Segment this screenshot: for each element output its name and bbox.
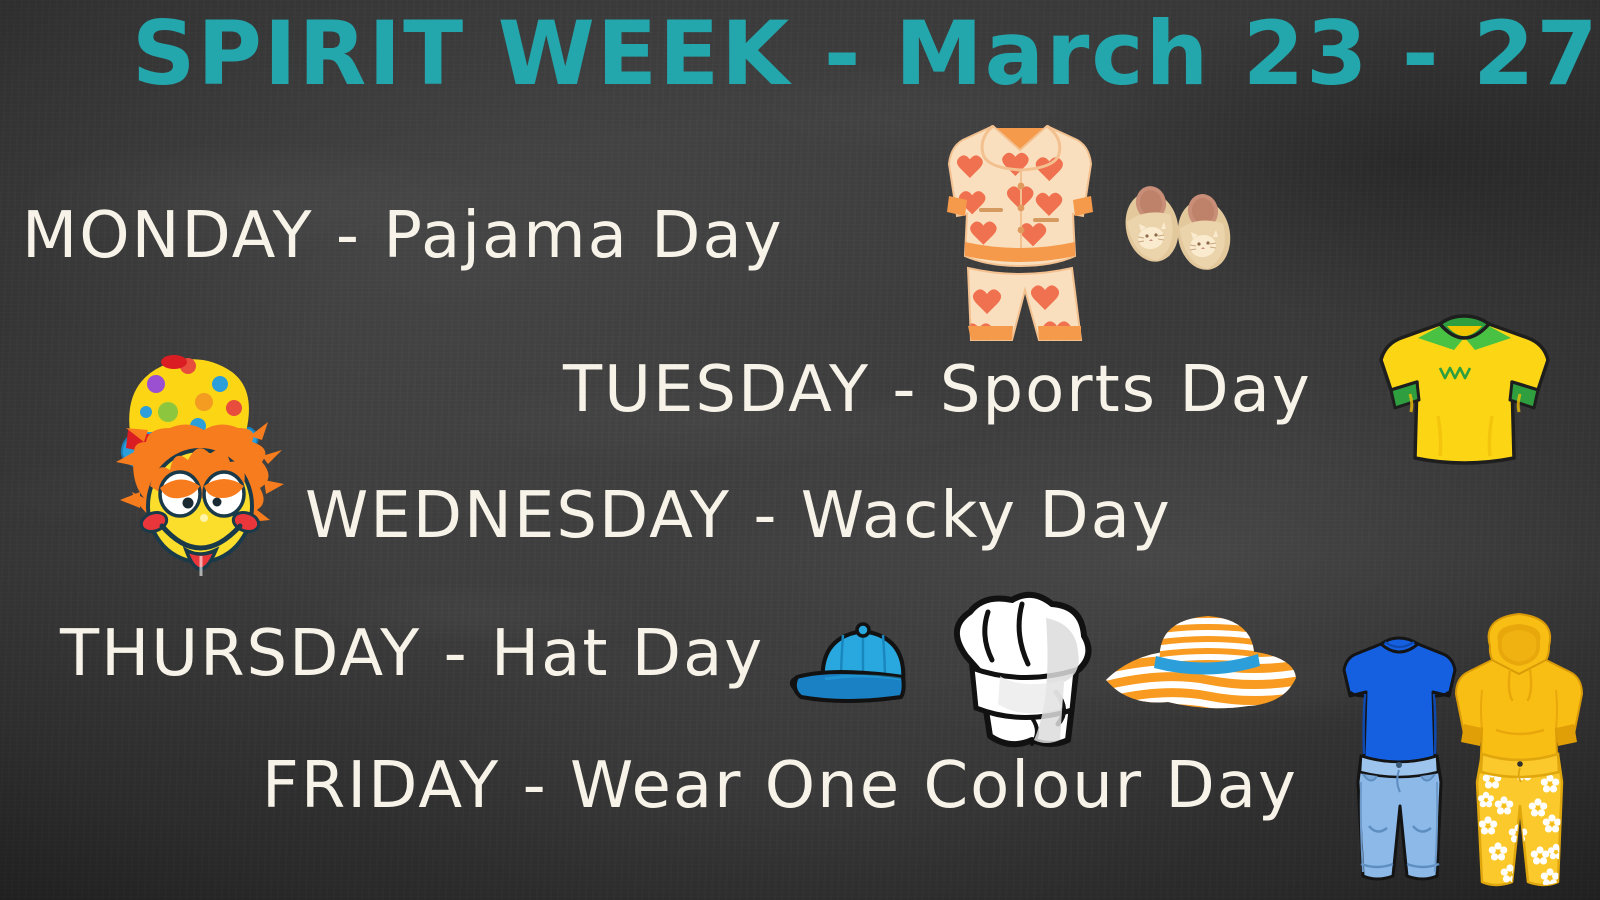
pajama-set-illustration <box>905 104 1135 374</box>
clown-face-illustration <box>100 336 310 586</box>
sun-hat-illustration <box>1098 608 1303 718</box>
schedule-row-thursday: THURSDAY - Hat Day <box>60 622 764 686</box>
day-label-wednesday: WEDNESDAY - Wacky Day <box>305 479 1172 553</box>
baseball-cap-illustration <box>783 615 943 720</box>
spirit-week-poster: SPIRIT WEEK - March 23 - 27 MONDAY - Paj… <box>0 0 1600 900</box>
day-label-monday: MONDAY - Pajama Day <box>22 199 784 273</box>
day-label-thursday: THURSDAY - Hat Day <box>60 617 764 691</box>
blue-shirt-jeans-illustration <box>1337 630 1462 900</box>
chef-hat-illustration <box>936 590 1111 750</box>
sports-jersey-illustration <box>1352 308 1577 478</box>
day-label-friday: FRIDAY - Wear One Colour Day <box>262 749 1298 823</box>
yellow-hoodie-floral-pants-illustration <box>1452 612 1587 900</box>
cat-slippers-illustration <box>1118 165 1238 280</box>
schedule-row-monday: MONDAY - Pajama Day <box>22 204 784 268</box>
schedule-row-friday: FRIDAY - Wear One Colour Day <box>262 754 1298 818</box>
schedule-row-wednesday: WEDNESDAY - Wacky Day <box>305 484 1172 548</box>
page-title: SPIRIT WEEK - March 23 - 27 <box>132 10 1600 98</box>
